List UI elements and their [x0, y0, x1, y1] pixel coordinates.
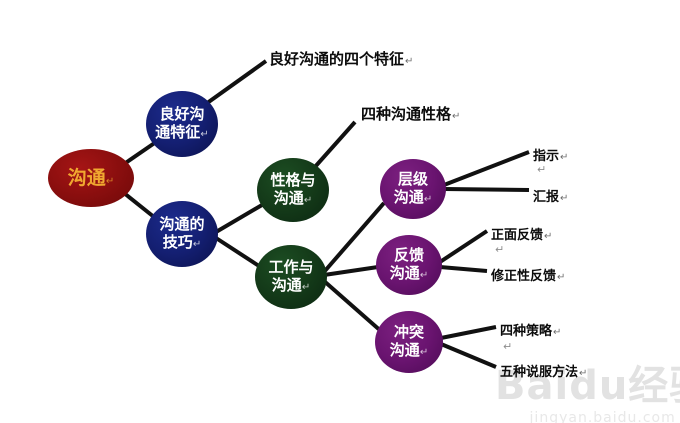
node-label-line: 冲突	[394, 324, 424, 342]
pilcrow-icon: ↵	[304, 195, 312, 206]
node-conflict-comm[interactable]: 冲突沟通↵	[375, 311, 443, 373]
pilcrow-icon-stray-2: ↵	[495, 243, 504, 256]
leaf-label-text: 正面反馈	[491, 228, 543, 243]
leaf-label-instruction: 指示↵	[533, 145, 568, 164]
pilcrow-icon-stray-1: ↵	[537, 163, 546, 176]
pilcrow-icon: ↵	[200, 129, 208, 140]
node-label-line: 沟通↵	[68, 167, 114, 189]
pilcrow-icon: ↵	[552, 327, 561, 338]
pilcrow-icon: ↵	[578, 368, 587, 379]
edge-conflict-to-strategies	[441, 327, 496, 338]
edge-root-to-skills	[124, 193, 154, 217]
edge-root-to-traits	[124, 142, 156, 164]
node-label-line: 沟通↵	[394, 189, 432, 207]
edge-personality-to-four-personalities	[314, 122, 355, 168]
pilcrow-icon: ↵	[193, 239, 201, 250]
leaf-label-text: 指示	[533, 149, 559, 164]
node-label-line: 层级	[398, 171, 428, 189]
node-label-line: 反馈	[394, 247, 424, 265]
edge-conflict-to-persuasion	[441, 344, 496, 367]
node-good-comm-traits[interactable]: 良好沟通特征↵	[146, 91, 218, 157]
node-work-comm[interactable]: 工作与沟通↵	[255, 245, 327, 309]
pilcrow-icon: ↵	[106, 176, 114, 187]
node-label-line: 性格与	[270, 172, 315, 190]
leaf-label-five-persuasion-methods: 五种说服方法↵	[500, 361, 587, 380]
pilcrow-icon-stray-3: ↵	[503, 340, 512, 353]
edge-hierarchy-to-instruction	[444, 152, 529, 185]
node-label-line: 良好沟	[159, 106, 204, 124]
pilcrow-icon: ↵	[420, 347, 428, 358]
pilcrow-icon: ↵	[302, 282, 310, 293]
node-label-line: 沟通↵	[390, 342, 428, 360]
pilcrow-icon: ↵	[424, 194, 432, 205]
edge-work-to-hierarchy	[324, 203, 384, 272]
node-root[interactable]: 沟通↵	[48, 149, 134, 207]
pilcrow-icon: ↵	[543, 231, 552, 242]
node-label-line: 沟通↵	[390, 265, 428, 283]
edge-work-to-conflict	[324, 281, 382, 332]
node-label-line: 沟通的	[159, 216, 204, 234]
node-comm-skills[interactable]: 沟通的技巧↵	[146, 201, 218, 267]
node-label-line: 工作与	[268, 259, 313, 277]
leaf-label-four-personalities: 四种沟通性格↵	[361, 103, 460, 124]
leaf-label-four-traits: 良好沟通的四个特征↵	[269, 48, 413, 69]
node-label-line: 通特征↵	[155, 124, 208, 142]
node-label-line: 技巧↵	[163, 234, 201, 252]
edge-traits-to-four-traits	[203, 61, 266, 106]
edge-skills-to-personality	[216, 205, 262, 232]
pilcrow-icon: ↵	[451, 111, 460, 122]
leaf-label-text: 修正性反馈	[491, 269, 556, 284]
pilcrow-icon: ↵	[559, 152, 568, 163]
leaf-label-text: 汇报	[533, 190, 559, 205]
pilcrow-icon: ↵	[420, 270, 428, 281]
node-label-line: 沟通↵	[272, 277, 310, 295]
edge-hierarchy-to-report	[444, 189, 529, 190]
edge-work-to-feedback	[324, 267, 378, 275]
node-feedback-comm[interactable]: 反馈沟通↵	[376, 235, 442, 295]
pilcrow-icon: ↵	[404, 56, 413, 67]
leaf-label-text: 四种策略	[500, 324, 552, 339]
edge-skills-to-work	[216, 238, 259, 266]
node-label-line: 沟通↵	[274, 190, 312, 208]
leaf-label-text: 良好沟通的四个特征	[269, 50, 404, 68]
mind-map-canvas: 沟通↵良好沟通特征↵沟通的技巧↵性格与沟通↵工作与沟通↵层级沟通↵反馈沟通↵冲突…	[0, 0, 680, 423]
leaf-label-text: 四种沟通性格	[361, 105, 451, 123]
leaf-label-four-strategies: 四种策略↵	[500, 320, 561, 339]
pilcrow-icon: ↵	[559, 193, 568, 204]
node-hierarchy-comm[interactable]: 层级沟通↵	[380, 159, 446, 219]
leaf-label-text: 五种说服方法	[500, 365, 578, 380]
leaf-label-report: 汇报↵	[533, 186, 568, 205]
node-personality-comm[interactable]: 性格与沟通↵	[257, 158, 329, 222]
leaf-label-corrective-feedback: 修正性反馈↵	[491, 265, 565, 284]
pilcrow-icon: ↵	[556, 272, 565, 283]
edge-feedback-to-positive	[440, 231, 487, 262]
edge-feedback-to-corrective	[440, 267, 487, 271]
leaf-label-positive-feedback: 正面反馈↵	[491, 224, 552, 243]
